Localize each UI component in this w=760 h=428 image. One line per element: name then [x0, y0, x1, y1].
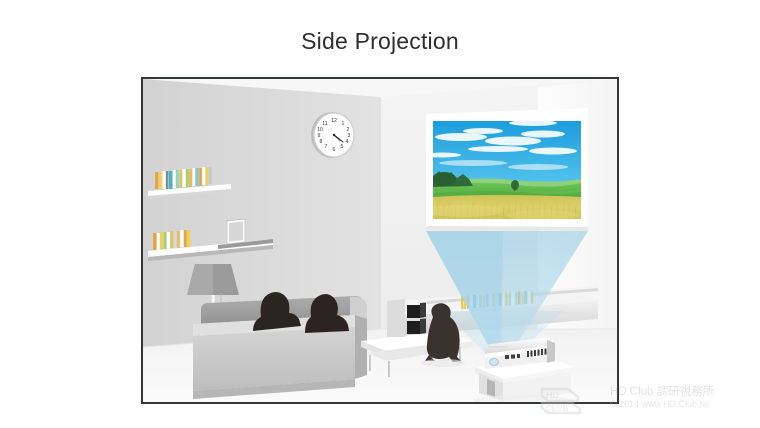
- living-room-scene: 12 1 2 3 4 5 6 7 8 9 10 11: [143, 79, 617, 402]
- svg-text:10: 10: [317, 127, 323, 133]
- watermark-brand: HD.Club 調研視務所: [610, 386, 760, 399]
- watermark-text: HD.Club 調研視務所 © 2014 www.HD.Club.tw: [610, 386, 760, 410]
- shelf-books-lower: [153, 230, 190, 250]
- logo-text-bottom: CLUB: [546, 404, 568, 413]
- svg-text:9: 9: [318, 133, 321, 139]
- projector-lens: [490, 359, 499, 366]
- svg-text:5: 5: [341, 144, 344, 150]
- picture-frame: [227, 219, 245, 244]
- svg-text:6: 6: [333, 147, 336, 153]
- watermark-copyright: © 2014 www.HD.Club.tw: [610, 399, 760, 410]
- illustration-frame: 12 1 2 3 4 5 6 7 8 9 10 11: [141, 77, 619, 404]
- svg-text:1: 1: [342, 121, 345, 127]
- logo-text-top: HD: [546, 390, 559, 400]
- wall-clock: 12 1 2 3 4 5 6 7 8 9 10 11: [311, 112, 354, 158]
- svg-text:8: 8: [320, 139, 323, 145]
- svg-text:4: 4: [346, 139, 349, 145]
- svg-text:11: 11: [322, 121, 327, 127]
- svg-text:7: 7: [325, 144, 328, 150]
- hdclub-logo: HD CLUB: [538, 385, 606, 417]
- projected-image: [423, 108, 588, 231]
- svg-text:12: 12: [331, 118, 337, 124]
- slide-canvas: Side Projection: [0, 0, 760, 428]
- page-title: Side Projection: [0, 28, 760, 55]
